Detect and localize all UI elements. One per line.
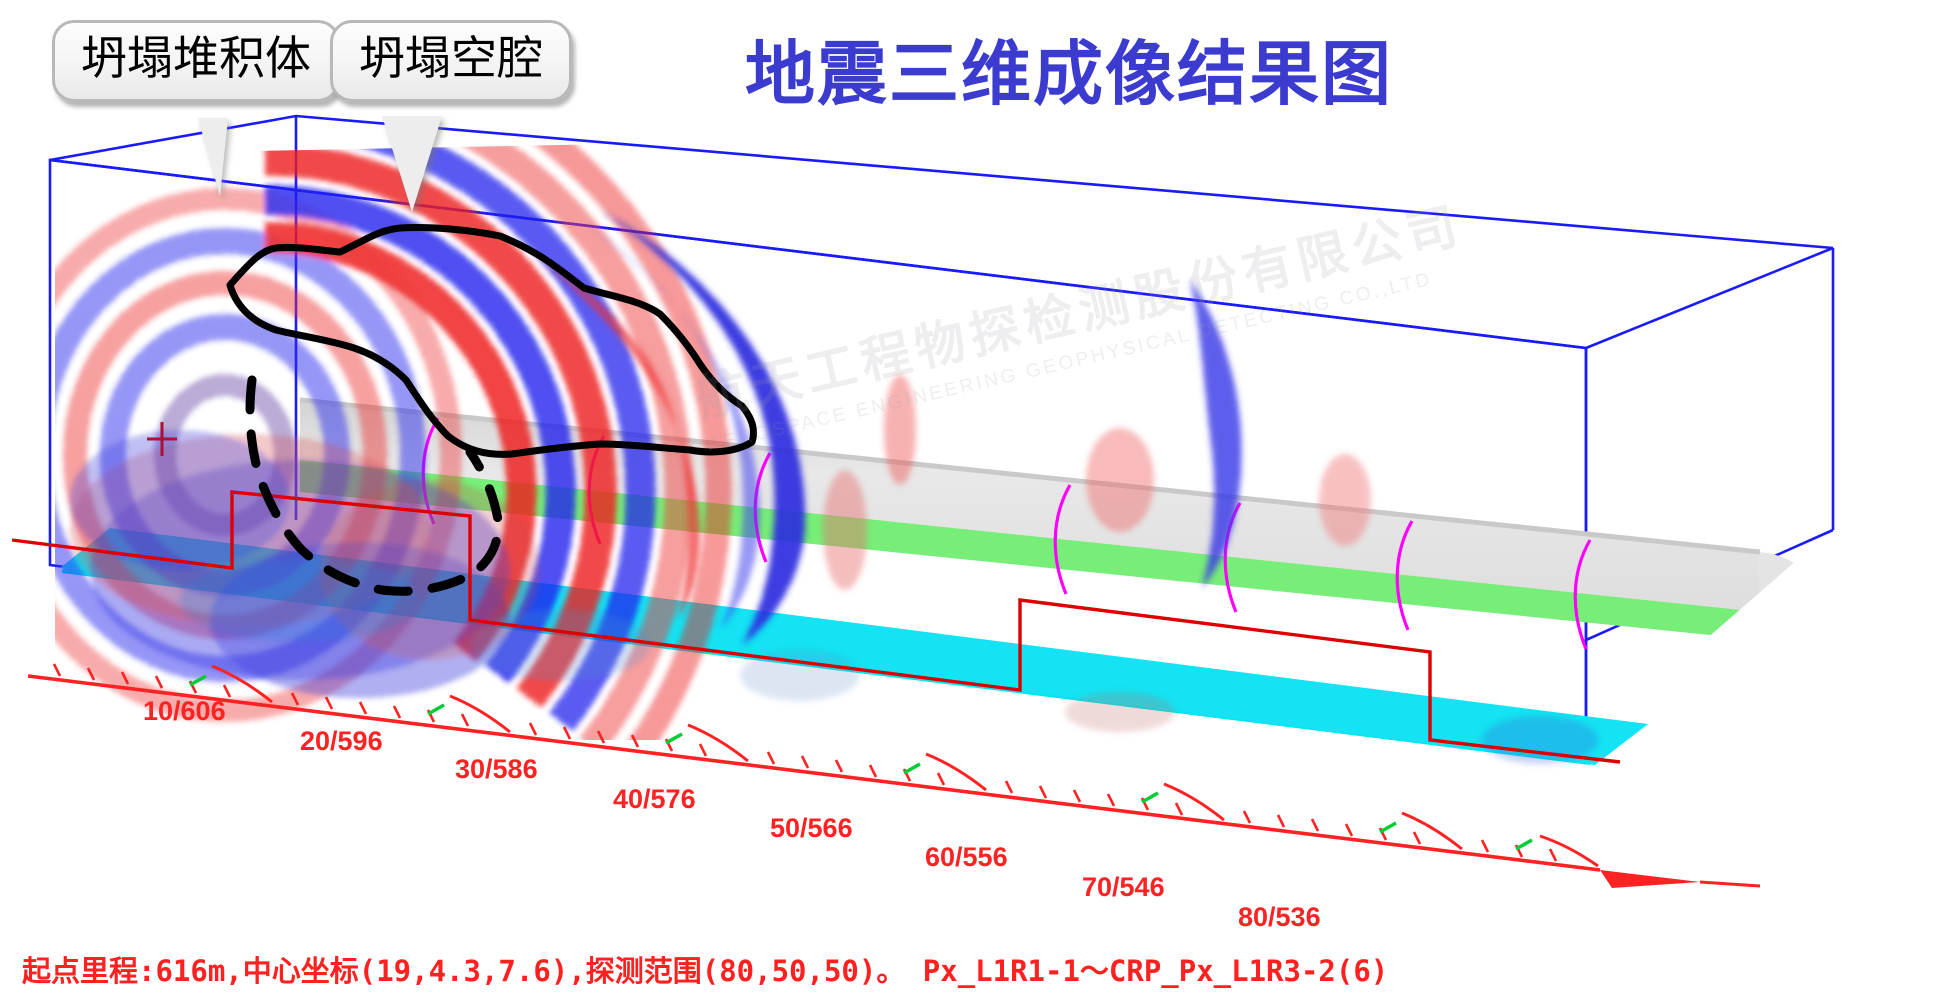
callout-label: 坍塌空腔	[359, 31, 543, 85]
axis-tick-label: 70/546	[1082, 872, 1165, 902]
plot-svg: 10/606 20/596 30/586 40/576 50/566 60/55…	[0, 100, 1947, 950]
callout-tail-icon	[382, 116, 442, 212]
axis-tick-label: 80/536	[1238, 902, 1321, 932]
axis-tick-label: 30/586	[455, 754, 538, 784]
axis-tick-label: 50/566	[770, 813, 853, 843]
seismic-3d-plot: 10/606 20/596 30/586 40/576 50/566 60/55…	[0, 100, 1947, 950]
callout-collapse-cavity[interactable]: 坍塌空腔	[330, 20, 572, 102]
seismic-3d-imaging-screenshot: 地震三维成像结果图	[0, 0, 1947, 999]
callout-bubble: 坍塌空腔	[330, 20, 572, 102]
axis-tick-label: 10/606	[143, 696, 226, 726]
callout-tail-icon	[198, 118, 228, 196]
callout-label: 坍塌堆积体	[81, 31, 311, 85]
survey-caption: 起点里程:616m,中心坐标(19,4.3,7.6),探测范围(80,50,50…	[22, 948, 1388, 990]
axis-tick-label: 20/596	[300, 726, 383, 756]
axis-tick-label: 40/576	[613, 784, 696, 814]
callout-bubble: 坍塌堆积体	[52, 20, 340, 102]
callout-collapse-accumulation[interactable]: 坍塌堆积体	[52, 20, 340, 102]
axis-tick-label: 60/556	[925, 842, 1008, 872]
